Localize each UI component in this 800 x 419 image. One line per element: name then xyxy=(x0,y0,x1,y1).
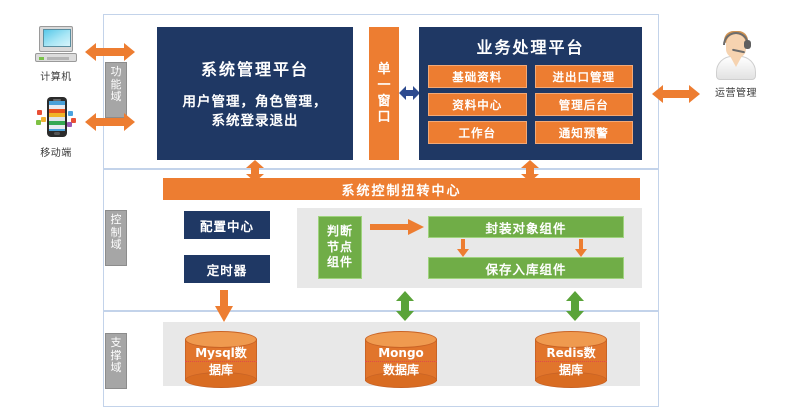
endpoint-operator: 运营管理 xyxy=(700,30,772,99)
business-module-notification-alert[interactable]: 通知预警 xyxy=(535,121,634,144)
domain-tag-support-char-2: 域 xyxy=(106,362,126,375)
system-management-platform-sub1: 用户管理，角色管理， xyxy=(183,93,328,112)
domain-tag-support: 支 撑 域 xyxy=(105,333,127,389)
judge-node-line-0: 判断 xyxy=(327,224,353,240)
endpoint-computer-label: 计算机 xyxy=(20,68,92,83)
system-control-pivot-bar: 系统控制扭转中心 xyxy=(163,178,640,200)
arrow-encapsulation-to-save-left xyxy=(457,239,469,257)
arrow-components-to-mongo xyxy=(395,291,415,321)
judge-node-line-1: 节点 xyxy=(327,240,353,256)
business-module-workbench[interactable]: 工作台 xyxy=(428,121,527,144)
database-mysql-label-cn: 据库 xyxy=(185,362,257,378)
arrow-computer-to-platform xyxy=(85,42,135,62)
database-mongo[interactable]: Mongo 数据库 xyxy=(365,331,437,387)
endpoint-mobile: 移动端 xyxy=(20,96,92,159)
database-mysql[interactable]: Mysql数 据库 xyxy=(185,331,257,387)
system-management-platform-title: 系统管理平台 xyxy=(201,56,309,80)
database-mysql-label-en: Mysql数 xyxy=(185,345,257,362)
single-window-char-1: 一 xyxy=(377,78,390,94)
judge-node-component-box[interactable]: 判断 节点 组件 xyxy=(318,216,362,279)
domain-tag-control-char-2: 域 xyxy=(106,239,126,252)
business-module-import-export[interactable]: 进出口管理 xyxy=(535,65,634,88)
database-mongo-label-en: Mongo xyxy=(365,345,437,362)
business-module-data-center[interactable]: 资料中心 xyxy=(428,93,527,116)
arrow-singlewindow-to-business xyxy=(399,85,420,101)
timer-box[interactable]: 定时器 xyxy=(184,255,270,283)
config-center-box[interactable]: 配置中心 xyxy=(184,211,270,239)
single-window-char-3: 口 xyxy=(377,110,390,126)
desktop-computer-icon xyxy=(33,26,79,66)
system-management-platform-sub2: 系统登录退出 xyxy=(183,112,328,131)
arrow-encapsulation-to-save-right xyxy=(575,239,587,257)
business-processing-platform-box: 业务处理平台 基础资料 进出口管理 资料中心 管理后台 工作台 通知预警 xyxy=(419,27,642,160)
domain-tag-control: 控 制 域 xyxy=(105,210,127,266)
domain-tag-control-char-0: 控 xyxy=(106,214,126,227)
database-mongo-label-cn: 数据库 xyxy=(365,362,437,378)
judge-node-line-2: 组件 xyxy=(327,255,353,271)
database-redis-label-en: Redis数 xyxy=(535,345,607,362)
single-window-box: 单 一 窗 口 xyxy=(369,27,399,160)
arrow-judge-to-encapsulation xyxy=(370,219,424,235)
arrow-mobile-to-platform xyxy=(85,112,135,132)
system-management-platform-box: 系统管理平台 用户管理，角色管理， 系统登录退出 xyxy=(157,27,353,160)
smartphone-icon xyxy=(33,96,79,142)
database-redis-label-cn: 据库 xyxy=(535,362,607,378)
endpoint-computer: 计算机 xyxy=(20,26,92,83)
architecture-diagram: 功 能 域 控 制 域 支 撑 域 计算机 xyxy=(0,0,800,419)
single-window-char-0: 单 xyxy=(377,62,390,78)
headset-operator-icon xyxy=(710,30,762,82)
business-module-grid: 基础资料 进出口管理 资料中心 管理后台 工作台 通知预警 xyxy=(428,65,633,144)
domain-tag-functional: 功 能 域 xyxy=(105,62,127,118)
arrow-components-to-redis xyxy=(565,291,585,321)
business-module-admin-backend[interactable]: 管理后台 xyxy=(535,93,634,116)
endpoint-operator-label: 运营管理 xyxy=(700,84,772,99)
business-module-basic-data[interactable]: 基础资料 xyxy=(428,65,527,88)
arrow-platform-to-operator xyxy=(652,84,700,104)
domain-tag-support-char-0: 支 xyxy=(106,337,126,350)
domain-tag-functional-char-0: 功 xyxy=(106,66,126,79)
business-processing-platform-title: 业务处理平台 xyxy=(476,34,584,58)
save-to-database-component-box[interactable]: 保存入库组件 xyxy=(428,257,624,279)
encapsulation-component-box[interactable]: 封装对象组件 xyxy=(428,216,624,238)
domain-tag-functional-char-2: 域 xyxy=(106,91,126,104)
endpoint-mobile-label: 移动端 xyxy=(20,144,92,159)
arrow-timer-to-mysql xyxy=(214,290,234,322)
single-window-char-2: 窗 xyxy=(377,94,390,110)
database-redis[interactable]: Redis数 据库 xyxy=(535,331,607,387)
